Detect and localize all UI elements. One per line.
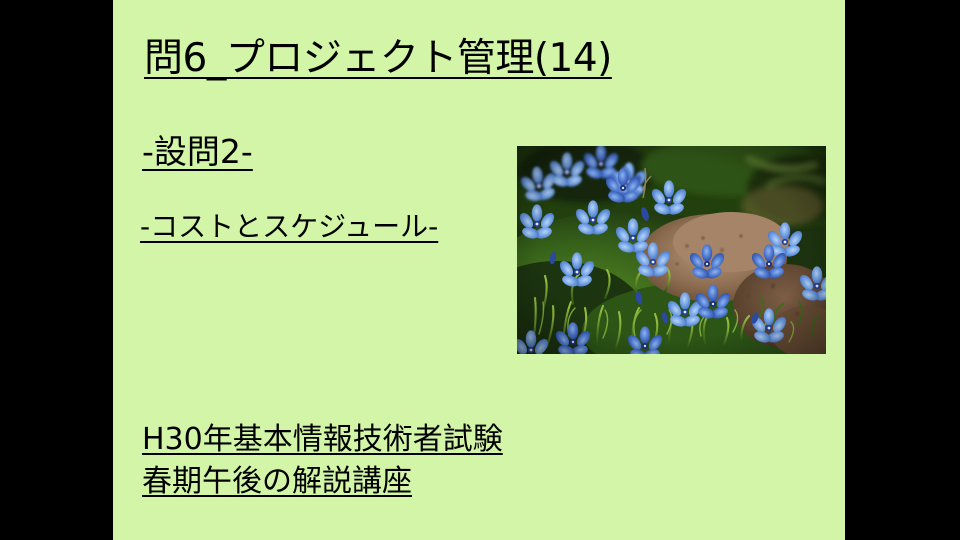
footer-text-block: H30年基本情報技術者試験 春期午後の解説講座 — [142, 419, 503, 503]
blue-gentian-flowers-photo — [517, 146, 826, 354]
footer-line-exam: H30年基本情報技術者試験 — [142, 419, 503, 461]
slide-subtitle-topic: -コストとスケジュール- — [140, 205, 438, 245]
letterbox-bar-right — [845, 0, 960, 540]
slide-canvas: 問6_プロジェクト管理(14) -設問2- -コストとスケジュール- — [113, 0, 845, 540]
footer-line-course: 春期午後の解説講座 — [142, 461, 503, 503]
presentation-slide-viewer: 問6_プロジェクト管理(14) -設問2- -コストとスケジュール- — [0, 0, 960, 540]
letterbox-bar-left — [0, 0, 113, 540]
slide-subtitle-question: -設問2- — [142, 125, 253, 173]
slide-title: 問6_プロジェクト管理(14) — [144, 27, 612, 83]
